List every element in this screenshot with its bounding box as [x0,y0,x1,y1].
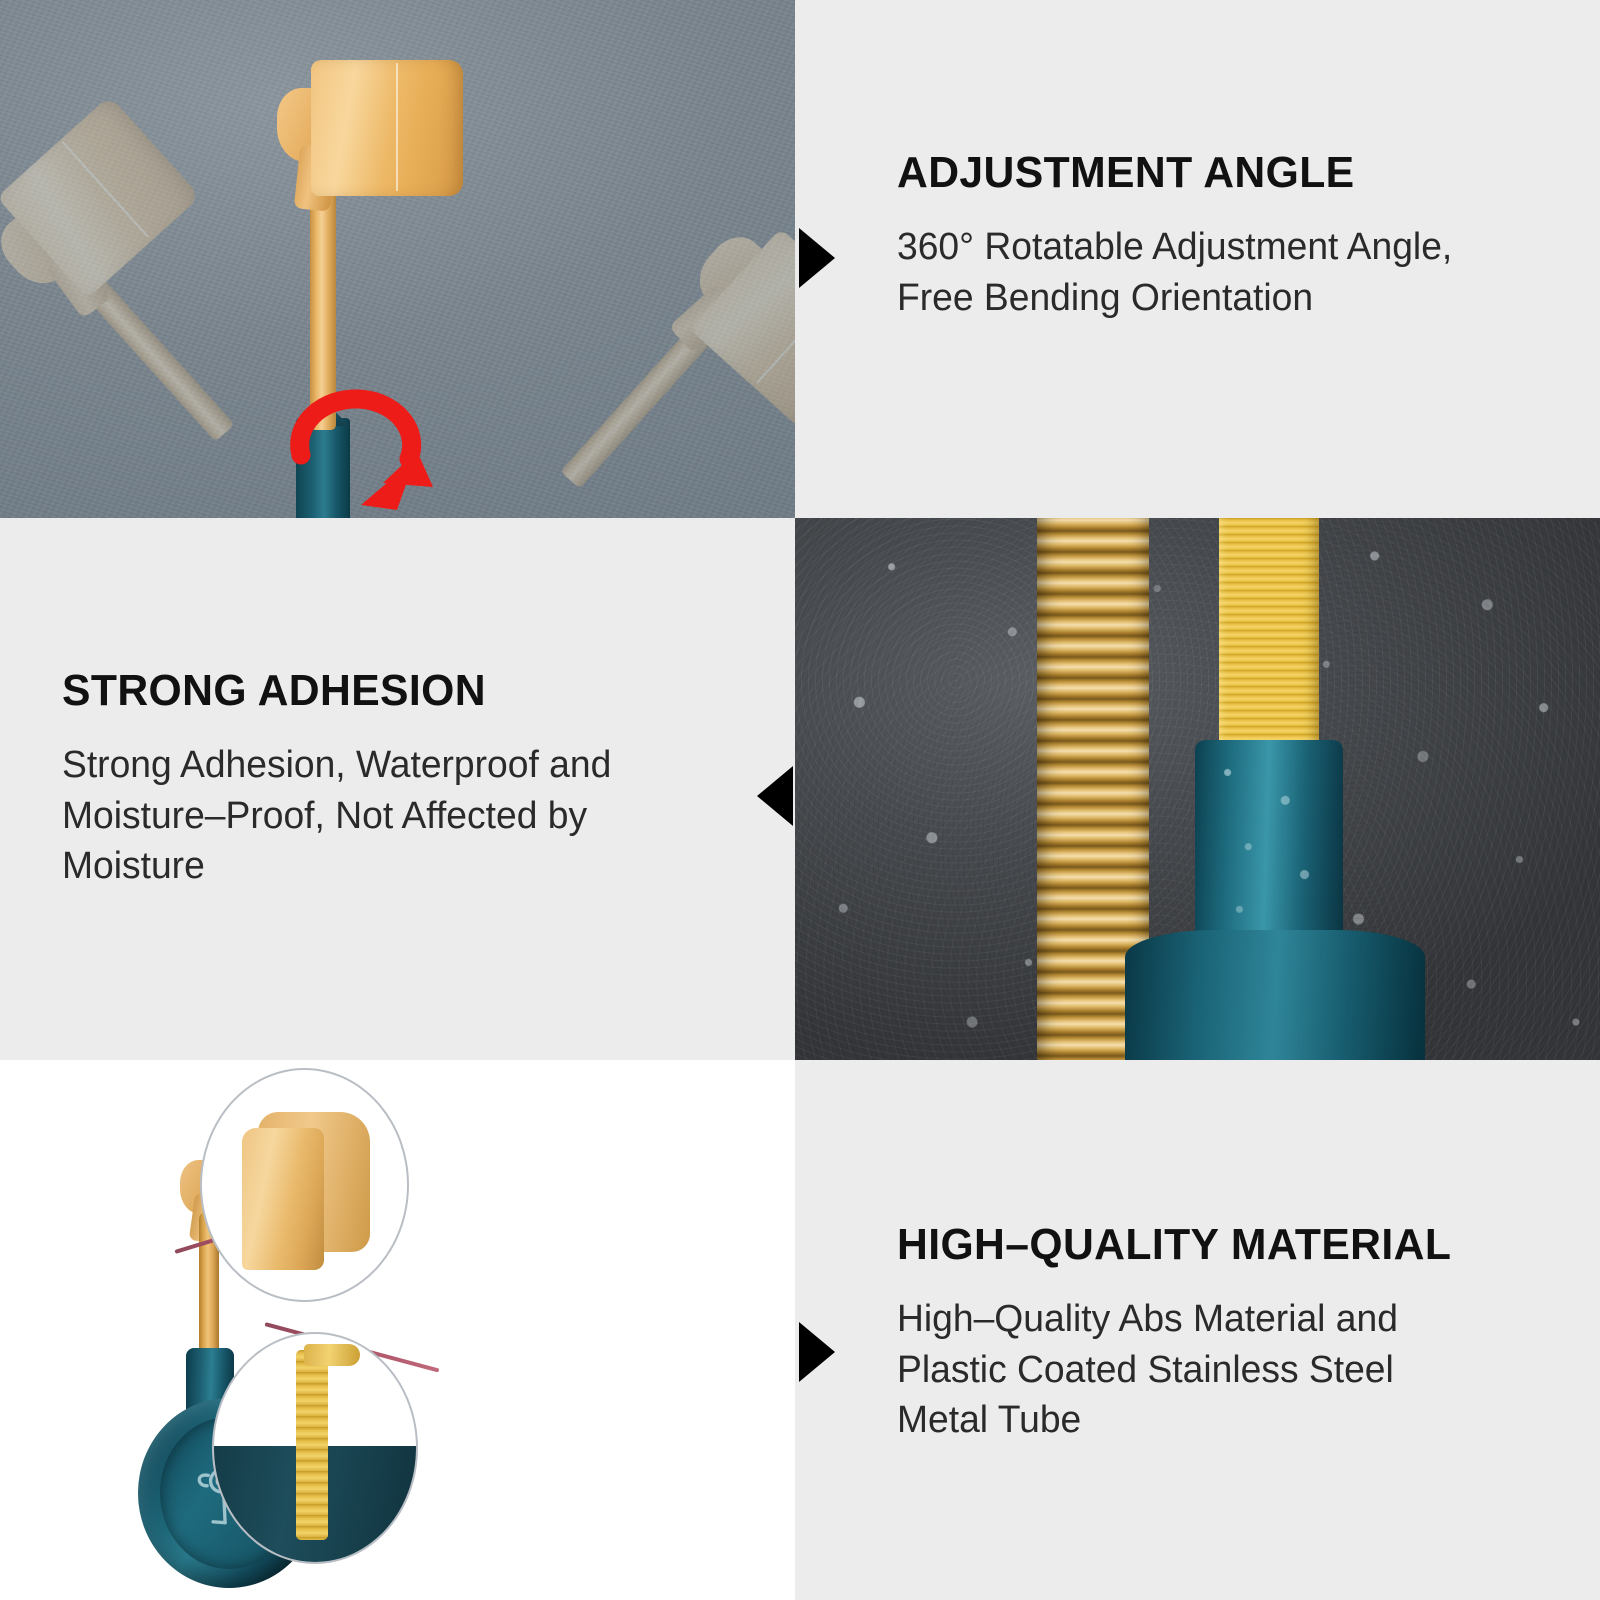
pointer-triangle-right-1 [799,228,835,288]
feature-title-2: STRONG ADHESION [62,668,731,714]
rotation-arrow-icon [265,355,445,518]
yellow-coated-tube [1219,518,1319,758]
photo-high-quality-material: OPEN LOCK [0,1060,795,1600]
feature-body-line: Plastic Coated Stainless Steel [897,1345,1583,1396]
callout-tube-elbow [304,1344,360,1366]
text-panel-high-quality-material: HIGH–QUALITY MATERIAL High–Quality Abs M… [795,1060,1600,1600]
callout-bubble-clip [200,1068,409,1302]
feature-text-block-1: ADJUSTMENT ANGLE 360° Rotatable Adjustme… [897,150,1587,323]
teal-suction-body [1125,930,1425,1060]
feature-title-1: ADJUSTMENT ANGLE [897,150,1566,196]
bracket-cradle [311,60,463,196]
callout-clip-front-tab [242,1128,324,1270]
feature-title-3: HIGH–QUALITY MATERIAL [897,1222,1576,1268]
feature-body-3: High–Quality Abs Material and Plastic Co… [897,1294,1583,1446]
feature-body-line: High–Quality Abs Material and [897,1294,1583,1345]
infographic-board: ADJUSTMENT ANGLE 360° Rotatable Adjustme… [0,0,1600,1600]
callout-bubble-tube [212,1332,418,1564]
bracket-head [277,60,463,202]
feature-body-line: Strong Adhesion, Waterproof and [62,740,738,791]
photo-strong-adhesion [795,518,1600,1060]
text-panel-strong-adhesion: STRONG ADHESION Strong Adhesion, Waterpr… [0,518,795,1060]
pointer-triangle-left-2 [757,766,793,826]
feature-body-2: Strong Adhesion, Waterproof and Moisture… [62,740,738,892]
feature-text-block-3: HIGH–QUALITY MATERIAL High–Quality Abs M… [897,1222,1597,1446]
text-panel-adjustment-angle: ADJUSTMENT ANGLE 360° Rotatable Adjustme… [795,0,1600,518]
photo-adjustment-angle [0,0,795,518]
callout-metal-tube [296,1350,328,1540]
feature-body-line: 360° Rotatable Adjustment Angle, [897,222,1573,273]
feature-body-1: 360° Rotatable Adjustment Angle, Free Be… [897,222,1573,323]
pointer-triangle-right-3 [799,1322,835,1382]
bracket-head [660,205,795,435]
feature-body-line: Metal Tube [897,1395,1583,1446]
feature-body-line: Moisture [62,841,738,892]
feature-body-line: Moisture–Proof, Not Affected by [62,791,738,842]
feature-text-block-2: STRONG ADHESION Strong Adhesion, Waterpr… [62,668,752,892]
feature-body-line: Free Bending Orientation [897,273,1573,324]
